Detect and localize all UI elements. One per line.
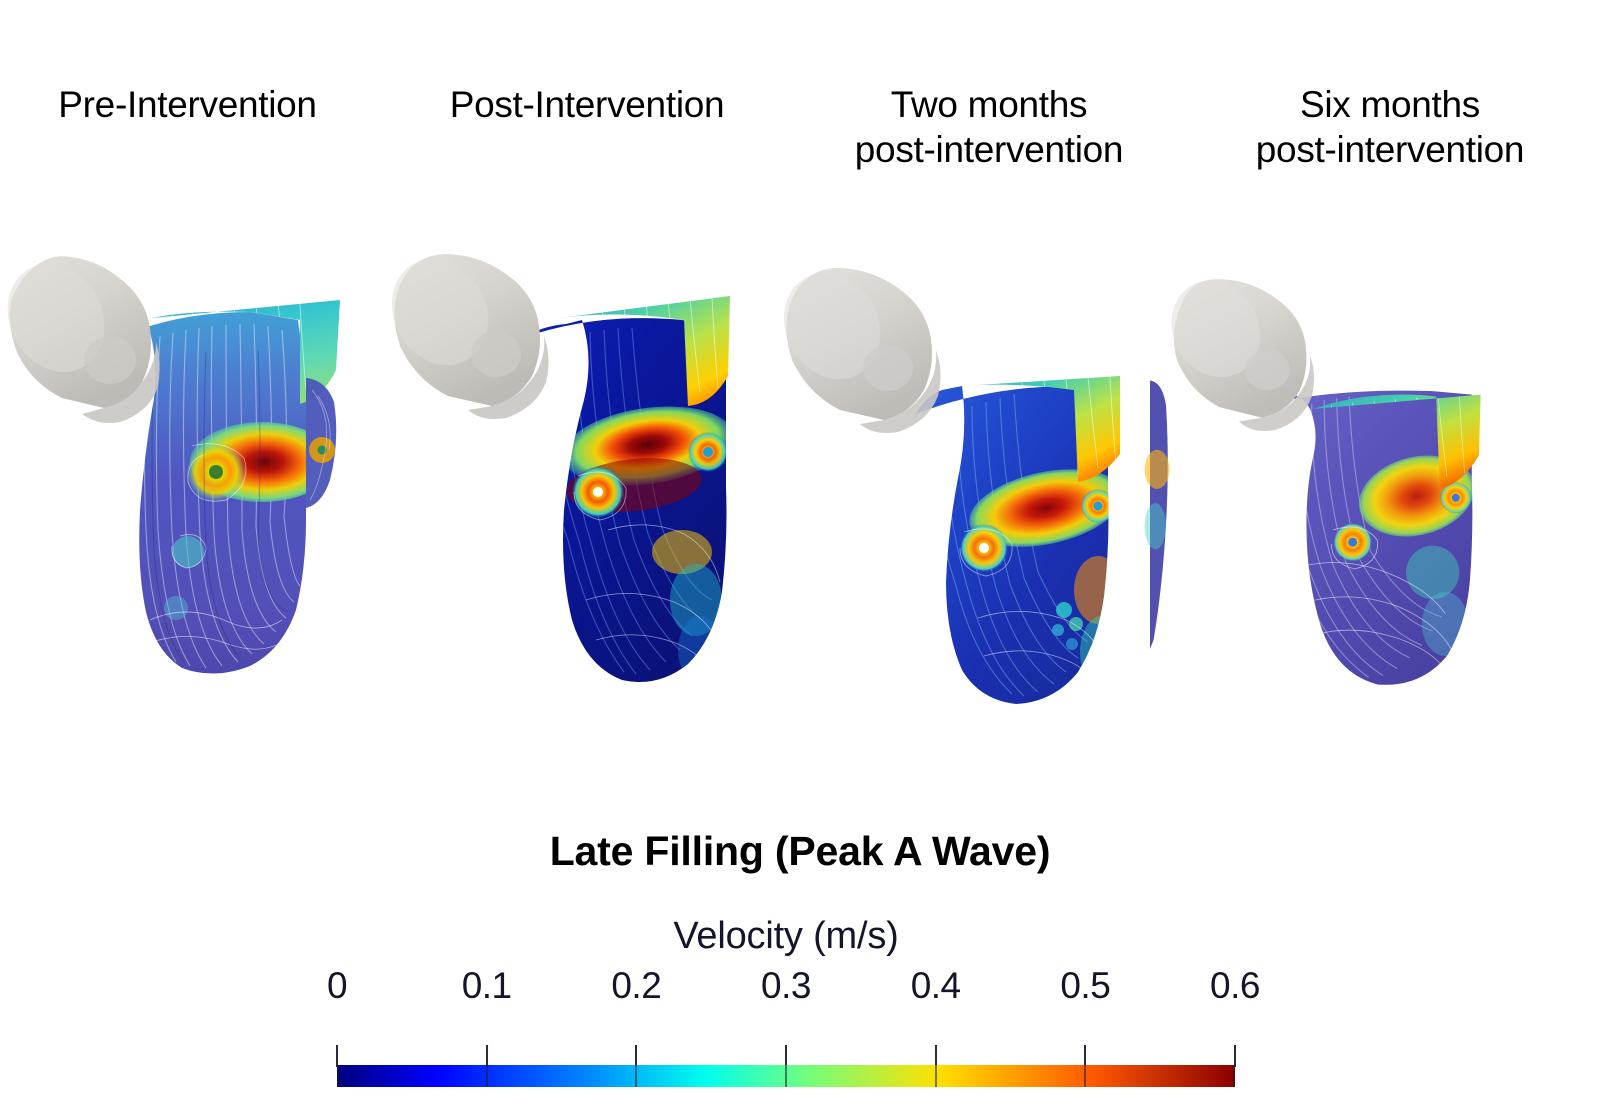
- panel-header-two-months-post-intervention: Two months post-intervention: [800, 82, 1178, 172]
- outflow-recirculation-strip: [306, 378, 336, 508]
- colorbar-tick-label: 0.1: [462, 965, 512, 1007]
- colorbar-bar-tick: [486, 1065, 488, 1087]
- colorbar-tick-labels: 00.10.20.30.40.50.6: [337, 965, 1235, 1010]
- colorbar-bar-tick: [785, 1065, 787, 1087]
- panel-header-pre-intervention: Pre-Intervention: [10, 82, 365, 127]
- velocity-colorbar: Velocity (m/s) 00.10.20.30.40.50.6: [337, 915, 1235, 1095]
- colorbar-bar-tick: [1233, 1065, 1235, 1087]
- colorbar-tick-mark: [785, 1045, 787, 1067]
- colorbar-gradient: [337, 1065, 1235, 1087]
- flow-panel-two-months-post-intervention: [772, 200, 1172, 760]
- colorbar-tick-mark: [336, 1045, 338, 1067]
- colorbar-tick-mark: [935, 1045, 937, 1067]
- colorbar-tick-mark: [486, 1045, 488, 1067]
- colorbar-axis-label: Velocity (m/s): [337, 915, 1235, 958]
- colorbar-tick-mark: [1084, 1045, 1086, 1067]
- colorbar-tick-label: 0.6: [1210, 965, 1260, 1007]
- colorbar-bar-tick: [337, 1065, 339, 1087]
- valve-geometry: [374, 242, 549, 419]
- valve-geometry: [766, 256, 941, 433]
- colorbar-tick-label: 0.3: [761, 965, 811, 1007]
- valve-geometry: [0, 247, 160, 423]
- flow-panel-pre-intervention: [0, 200, 400, 760]
- colorbar-bar-tick: [935, 1065, 937, 1087]
- colorbar-tick-mark: [635, 1045, 637, 1067]
- panel-header-post-intervention: Post-Intervention: [398, 82, 776, 127]
- valve-geometry: [1155, 265, 1314, 431]
- colorbar-tick-label: 0.5: [1060, 965, 1110, 1007]
- panel-header-six-months-post-intervention: Six months post-intervention: [1190, 82, 1590, 172]
- colorbar-bar-tick: [1084, 1065, 1086, 1087]
- flow-panel-post-intervention: [382, 200, 782, 760]
- flow-visualization-row: [0, 200, 1600, 760]
- flow-panel-six-months-post-intervention: [1150, 200, 1550, 760]
- figure-title: Late Filling (Peak A Wave): [0, 828, 1600, 875]
- colorbar-tick-label: 0.4: [911, 965, 961, 1007]
- colorbar-tick-mark: [1234, 1045, 1236, 1067]
- colorbar-bar-tick: [635, 1065, 637, 1087]
- colorbar-tick-label: 0.2: [611, 965, 661, 1007]
- colorbar-tick-label: 0: [327, 965, 347, 1007]
- colorbar-tick-marks: [337, 1045, 1235, 1067]
